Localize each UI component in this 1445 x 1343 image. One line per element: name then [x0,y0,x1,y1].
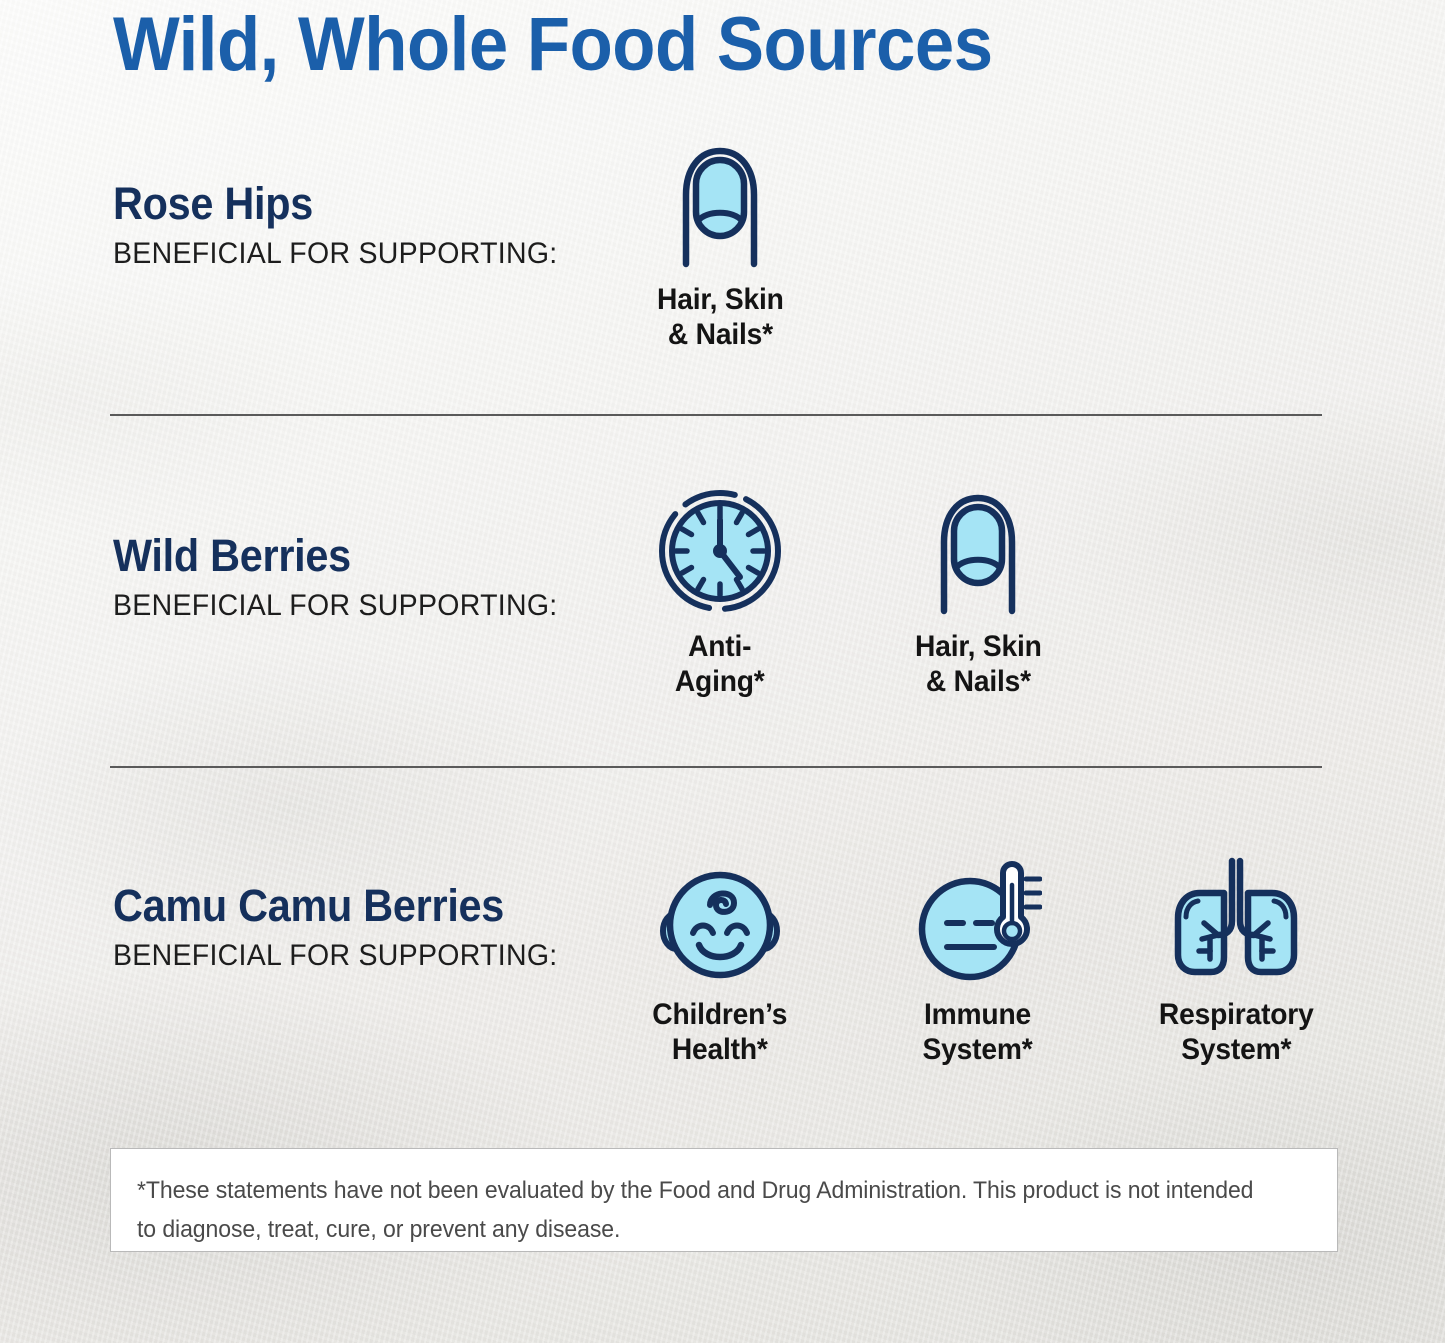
benefit-caption: Hair, Skin & Nails* [657,282,784,352]
fingernail-icon [926,487,1030,615]
caption-line-1: Hair, Skin [657,282,784,317]
benefit-caption: Immune System* [923,997,1033,1067]
caption-line-1: Respiratory [1159,997,1314,1032]
benefit-hair-skin-nails: Hair, Skin & Nails* [634,140,806,352]
caption-line-2: & Nails* [657,317,784,352]
benefit-hair-skin-nails: Hair, Skin & Nails* [892,487,1064,699]
caption-line-2: Health* [653,1032,788,1067]
caption-line-2: Aging* [675,664,765,699]
section-heading-group: Camu Camu Berries BENEFICIAL FOR SUPPORT… [113,880,581,974]
disclaimer-text: *These statements have not been evaluate… [137,1171,1264,1249]
section-subtitle: BENEFICIAL FOR SUPPORTING: [113,938,557,974]
benefit-list: Hair, Skin & Nails* [634,140,806,352]
caption-line-2: & Nails* [915,664,1042,699]
section-subtitle: BENEFICIAL FOR SUPPORTING: [113,236,557,272]
fingernail-icon [668,140,772,268]
section-heading-group: Rose Hips BENEFICIAL FOR SUPPORTING: [113,178,581,272]
lungs-icon [1166,855,1306,983]
benefit-anti-aging: Anti- Aging* [634,487,806,699]
benefit-immune-system: Immune System* [892,855,1064,1067]
benefit-caption: Anti- Aging* [675,629,765,699]
disclaimer-box: *These statements have not been evaluate… [110,1148,1338,1252]
benefit-caption: Hair, Skin & Nails* [915,629,1042,699]
benefit-childrens-health: Children’s Health* [634,855,806,1067]
section-title: Rose Hips [113,178,543,230]
section-title: Camu Camu Berries [113,880,543,932]
caption-line-2: System* [1159,1032,1314,1067]
sick-face-thermometer-icon [914,855,1042,983]
caption-line-2: System* [923,1032,1033,1067]
benefit-caption: Respiratory System* [1159,997,1314,1067]
section-title: Wild Berries [113,530,543,582]
caption-line-1: Hair, Skin [915,629,1042,664]
caption-line-1: Children’s [653,997,788,1032]
benefit-list: Anti- Aging* Hair, Skin & Nail [634,487,1064,699]
baby-face-icon [656,855,784,983]
benefit-caption: Children’s Health* [653,997,788,1067]
divider-1 [110,414,1322,416]
section-heading-group: Wild Berries BENEFICIAL FOR SUPPORTING: [113,530,581,624]
caption-line-1: Anti- [675,629,765,664]
caption-line-1: Immune [923,997,1033,1032]
clock-icon [656,487,784,615]
divider-2 [110,766,1322,768]
page-root: Wild, Whole Food Sources Rose Hips BENEF… [0,0,1445,1343]
benefit-list: Children’s Health* [634,855,1322,1067]
page-title: Wild, Whole Food Sources [113,2,993,88]
benefit-respiratory-system: Respiratory System* [1150,855,1322,1067]
section-subtitle: BENEFICIAL FOR SUPPORTING: [113,588,557,624]
